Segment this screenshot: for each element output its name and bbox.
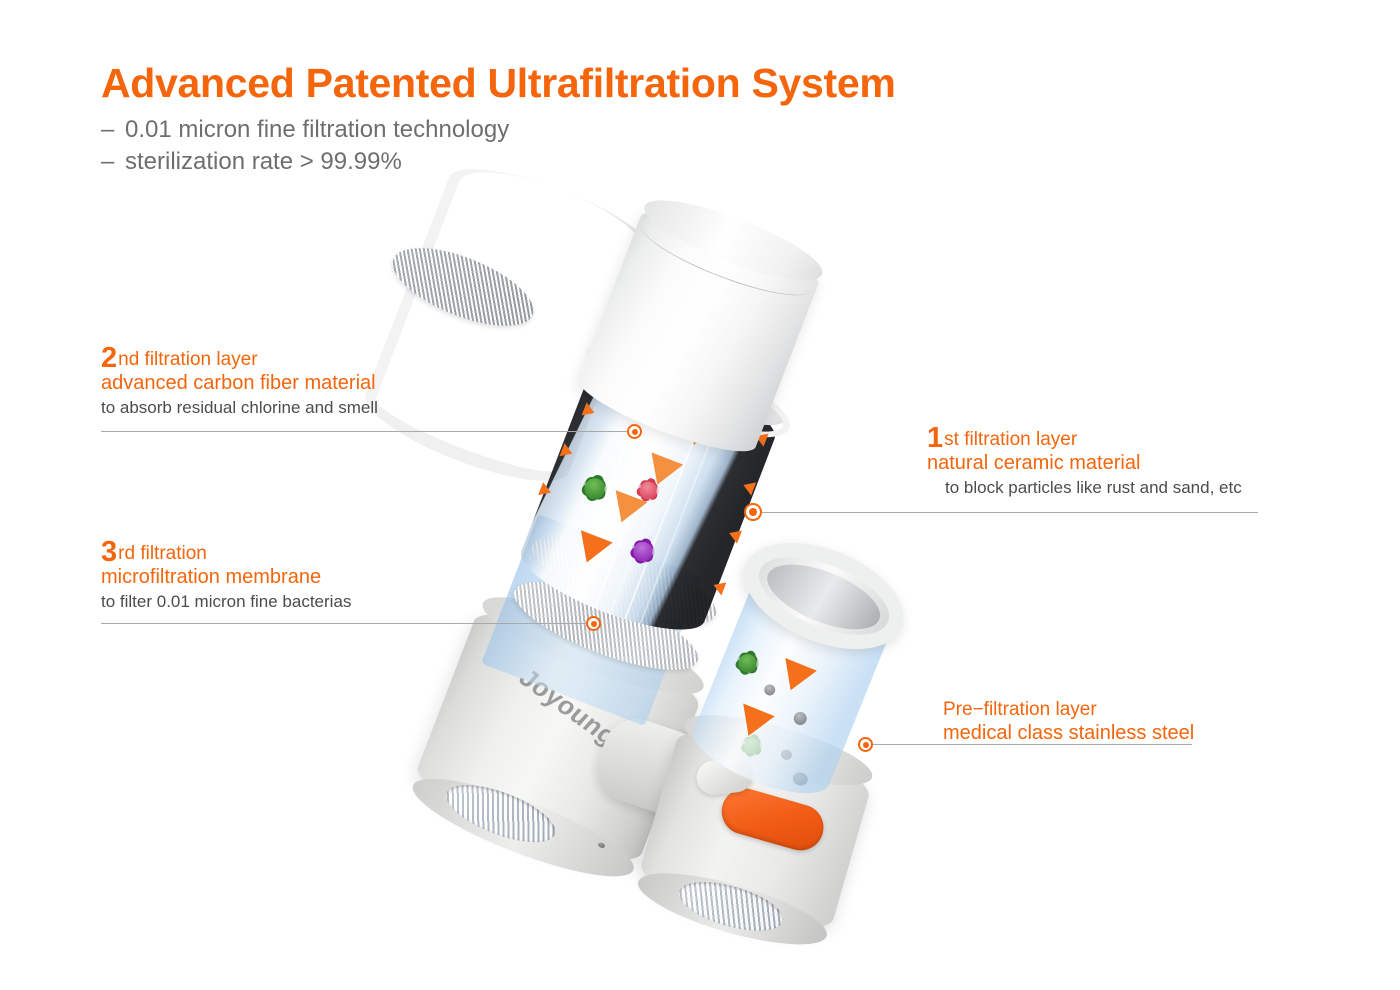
callout-layer-2-heading: 2nd filtration layer: [101, 347, 378, 371]
marker-dot-layer-2[interactable]: [627, 424, 642, 439]
callout-layer-2: 2nd filtration layer advanced carbon fib…: [101, 347, 378, 419]
callout-layer-2-description: to absorb residual chlorine and smell: [101, 397, 378, 419]
header-block: Advanced Patented Ultrafiltration System…: [101, 58, 1001, 178]
infographic-canvas: Advanced Patented Ultrafiltration System…: [0, 0, 1400, 990]
bullet-text-0: 0.01 micron fine filtration technology: [125, 114, 509, 146]
leader-line-layer-1: [760, 512, 1258, 513]
stainless-steel-mesh: [383, 232, 544, 342]
callout-layer-3-description: to filter 0.01 micron fine bacterias: [101, 591, 351, 613]
bullet-dash-icon: –: [101, 114, 125, 146]
callout-layer-1-number: 1: [927, 422, 943, 454]
header-bullet-list: – 0.01 micron fine filtration technology…: [101, 114, 1001, 178]
callout-layer-3-number: 3: [101, 536, 117, 568]
callout-layer-3-material: microfiltration membrane: [101, 565, 351, 589]
germ-icon: [736, 652, 759, 675]
bullet-dash-icon: –: [101, 146, 125, 178]
callout-layer-1: 1st filtration layer natural ceramic mat…: [927, 427, 1242, 499]
particle-icon: [792, 710, 809, 727]
callout-layer-2-number: 2: [101, 342, 117, 374]
flow-arrow-icon: [733, 704, 775, 743]
leader-line-layer-2: [101, 431, 634, 432]
callout-layer-3-heading: 3rd filtration: [101, 541, 351, 565]
leader-line-layer-pre: [872, 744, 1192, 745]
callout-layer-3-ordinal: rd filtration: [118, 543, 207, 564]
bullet-item-1: – sterilization rate > 99.99%: [101, 146, 1001, 178]
callout-layer-1-heading: 1st filtration layer: [927, 427, 1242, 451]
bullet-item-0: – 0.01 micron fine filtration technology: [101, 114, 1001, 146]
callout-layer-1-ordinal: st filtration layer: [944, 429, 1077, 450]
germ-icon: [631, 539, 656, 564]
product-illustration: Joyoung九阳: [400, 180, 1020, 960]
page-title: Advanced Patented Ultrafiltration System: [101, 58, 1001, 108]
bullet-text-1: sterilization rate > 99.99%: [125, 146, 402, 178]
flow-arrow-icon: [775, 658, 817, 697]
callout-layer-pre-heading: Pre−filtration layer: [943, 698, 1194, 721]
marker-dot-layer-1[interactable]: [744, 503, 762, 521]
callout-layer-pre: Pre−filtration layer medical class stain…: [943, 698, 1194, 745]
leader-line-layer-3: [101, 623, 593, 624]
callout-layer-pre-ordinal: Pre−filtration layer: [943, 699, 1097, 720]
particle-icon: [763, 683, 777, 697]
callout-layer-2-material: advanced carbon fiber material: [101, 371, 378, 395]
callout-layer-3: 3rd filtration microfiltration membrane …: [101, 541, 351, 613]
callout-layer-1-description: to block particles like rust and sand, e…: [945, 477, 1242, 499]
callout-layer-pre-material: medical class stainless steel: [943, 721, 1194, 745]
callout-layer-2-ordinal: nd filtration layer: [118, 349, 257, 370]
marker-dot-layer-3[interactable]: [586, 616, 601, 631]
callout-layer-1-material: natural ceramic material: [927, 451, 1242, 475]
marker-dot-layer-pre[interactable]: [858, 737, 873, 752]
